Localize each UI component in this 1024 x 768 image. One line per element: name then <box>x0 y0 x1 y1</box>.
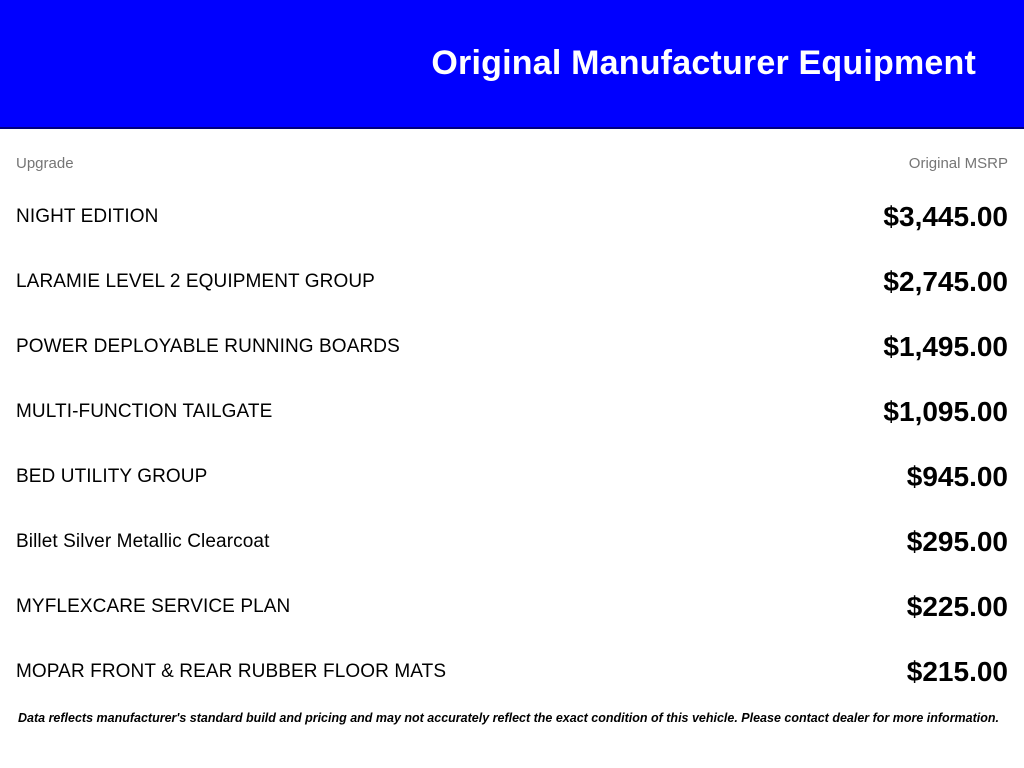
table-header-row: Upgrade Original MSRP <box>16 129 1008 184</box>
upgrade-name: MULTI-FUNCTION TAILGATE <box>16 379 676 444</box>
upgrade-name: MOPAR FRONT & REAR RUBBER FLOOR MATS <box>16 639 676 704</box>
page-title: Original Manufacturer Equipment <box>431 45 976 82</box>
upgrade-name: NIGHT EDITION <box>16 184 676 249</box>
table-row: MYFLEXCARE SERVICE PLAN $225.00 <box>16 574 1008 639</box>
upgrade-price: $945.00 <box>676 444 1008 509</box>
upgrade-name: LARAMIE LEVEL 2 EQUIPMENT GROUP <box>16 249 676 314</box>
page-header-banner: Original Manufacturer Equipment <box>0 0 1024 129</box>
table-row: MOPAR FRONT & REAR RUBBER FLOOR MATS $21… <box>16 639 1008 704</box>
upgrade-price: $3,445.00 <box>676 184 1008 249</box>
equipment-table: Upgrade Original MSRP NIGHT EDITION $3,4… <box>16 129 1008 704</box>
column-header-original-msrp: Original MSRP <box>676 129 1008 184</box>
upgrade-price: $1,095.00 <box>676 379 1008 444</box>
disclaimer-text: Data reflects manufacturer's standard bu… <box>18 710 1006 726</box>
upgrade-name: MYFLEXCARE SERVICE PLAN <box>16 574 676 639</box>
upgrade-price: $215.00 <box>676 639 1008 704</box>
table-row: LARAMIE LEVEL 2 EQUIPMENT GROUP $2,745.0… <box>16 249 1008 314</box>
table-header: Upgrade Original MSRP <box>16 129 1008 184</box>
upgrade-price: $2,745.00 <box>676 249 1008 314</box>
table-body: NIGHT EDITION $3,445.00 LARAMIE LEVEL 2 … <box>16 184 1008 704</box>
table-row: POWER DEPLOYABLE RUNNING BOARDS $1,495.0… <box>16 314 1008 379</box>
table-row: NIGHT EDITION $3,445.00 <box>16 184 1008 249</box>
upgrade-name: Billet Silver Metallic Clearcoat <box>16 509 676 574</box>
upgrade-price: $1,495.00 <box>676 314 1008 379</box>
table-row: MULTI-FUNCTION TAILGATE $1,095.00 <box>16 379 1008 444</box>
upgrade-name: POWER DEPLOYABLE RUNNING BOARDS <box>16 314 676 379</box>
column-header-upgrade: Upgrade <box>16 129 676 184</box>
equipment-page: Original Manufacturer Equipment Upgrade … <box>0 0 1024 768</box>
upgrade-name: BED UTILITY GROUP <box>16 444 676 509</box>
upgrade-price: $225.00 <box>676 574 1008 639</box>
equipment-table-container: Upgrade Original MSRP NIGHT EDITION $3,4… <box>0 129 1024 704</box>
upgrade-price: $295.00 <box>676 509 1008 574</box>
table-row: Billet Silver Metallic Clearcoat $295.00 <box>16 509 1008 574</box>
table-row: BED UTILITY GROUP $945.00 <box>16 444 1008 509</box>
